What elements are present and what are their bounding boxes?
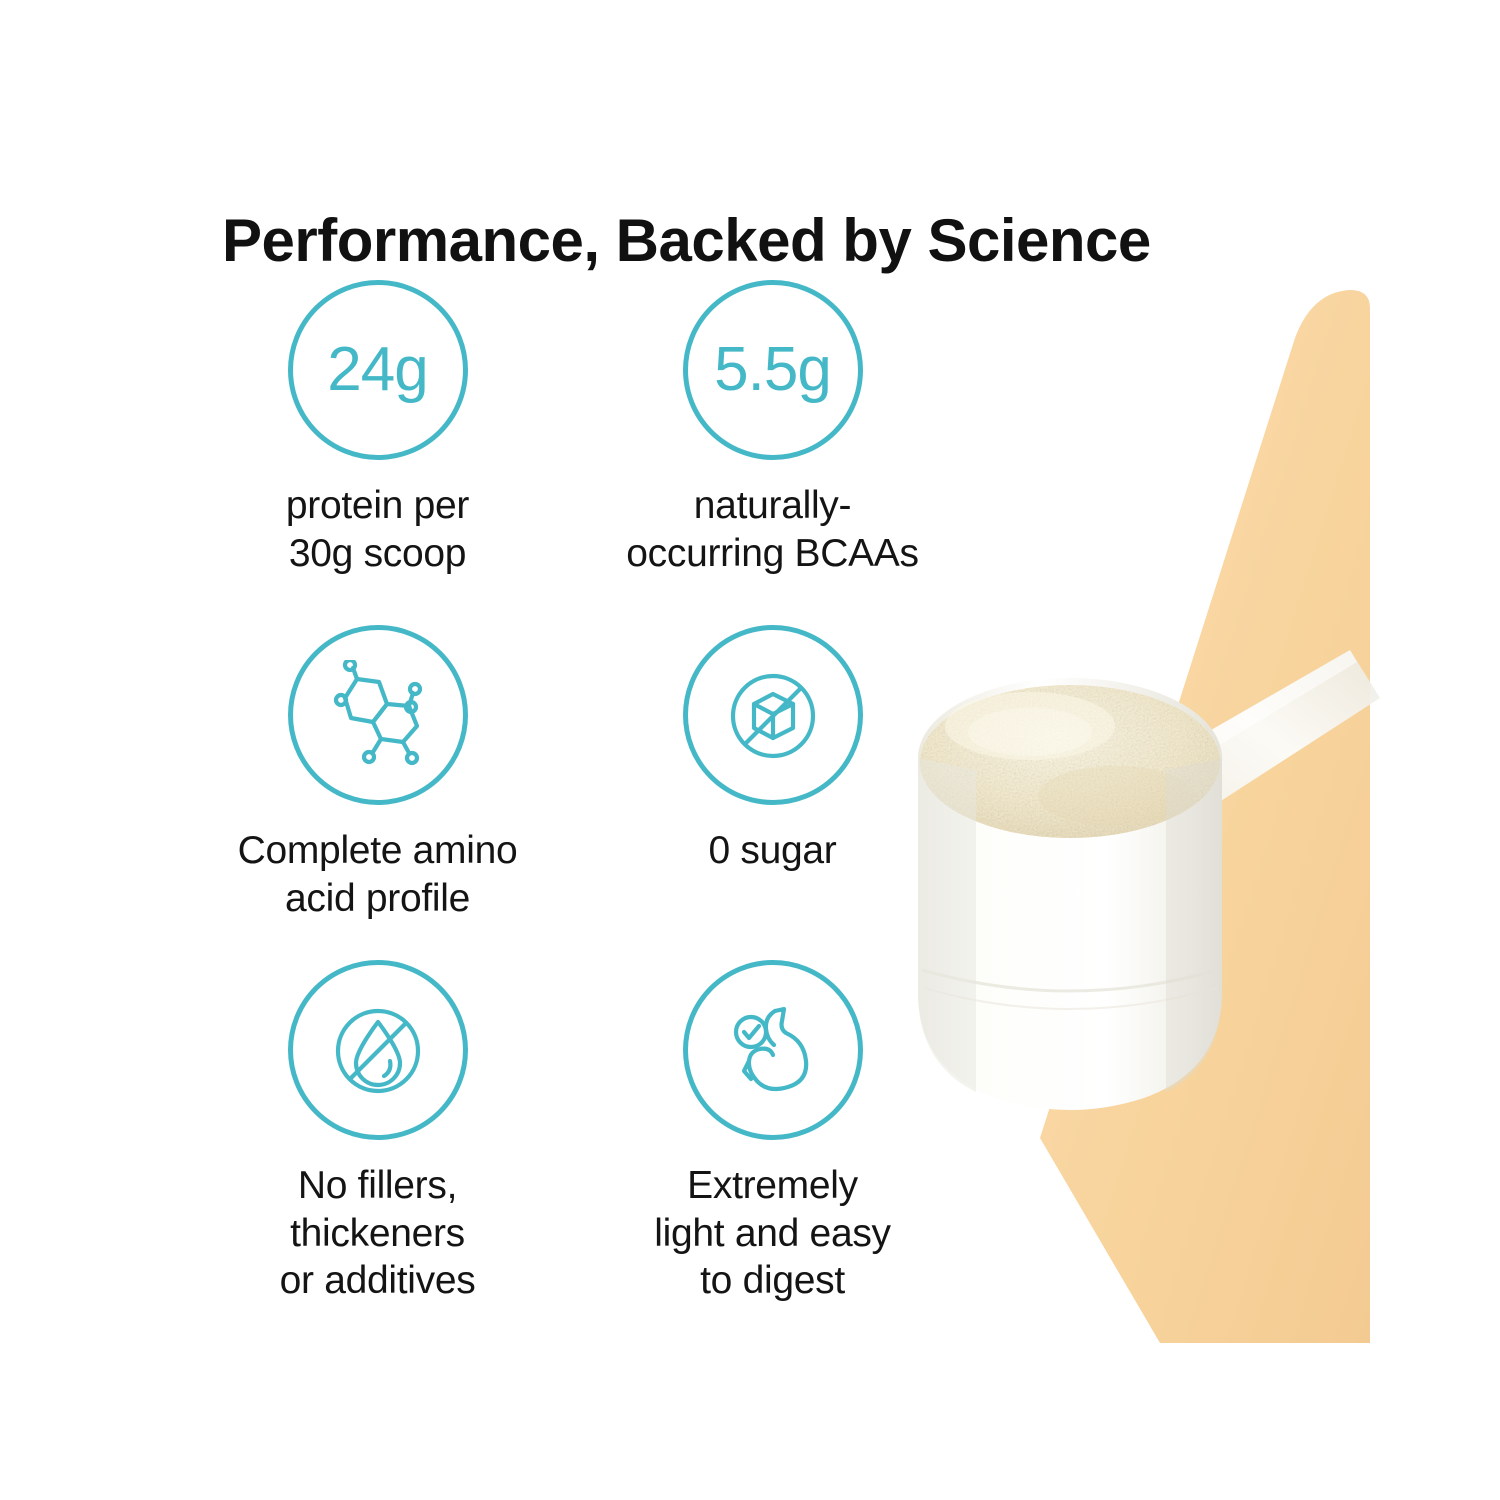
label-line: or additives [280,1257,476,1305]
badge-circle-amino [288,625,468,805]
badge-circle-bcaa: 5.5g [683,280,863,460]
stomach-check-icon [718,995,828,1105]
page-title: Performance, Backed by Science [222,208,1222,274]
feature-label-bcaa: naturally- occurring BCAAs [626,482,918,577]
label-line: protein per [286,482,469,530]
badge-circle-no-fillers [288,960,468,1140]
label-line: No fillers, [280,1162,476,1210]
product-infographic: Performance, Backed by Science 24g prote… [0,0,1500,1500]
badge-circle-sugar [683,625,863,805]
feature-row-2: Complete amino acid profile [180,625,970,960]
badge-circle-digest [683,960,863,1140]
badge-circle-protein: 24g [288,280,468,460]
feature-easy-to-digest: Extremely light and easy to digest [575,960,970,1290]
feature-label-sugar: 0 sugar [709,827,837,875]
badge-value-protein: 24g [327,339,427,401]
feature-label-no-fillers: No fillers, thickeners or additives [280,1162,476,1305]
no-droplet-icon [323,995,433,1105]
feature-complete-amino-acid-profile: Complete amino acid profile [180,625,575,960]
feature-row-3: No fillers, thickeners or additives [180,960,970,1290]
feature-label-digest: Extremely light and easy to digest [654,1162,890,1305]
molecule-icon [323,660,433,770]
feature-row-1: 24g protein per 30g scoop 5.5g naturally… [180,280,970,625]
label-line: light and easy [654,1210,890,1258]
feature-zero-sugar: 0 sugar [575,625,970,960]
feature-grid: 24g protein per 30g scoop 5.5g naturally… [180,280,970,1290]
label-line: Extremely [654,1162,890,1210]
label-line: 30g scoop [286,530,469,578]
label-line: naturally- [626,482,918,530]
label-line: Complete amino [238,827,518,875]
label-line: to digest [654,1257,890,1305]
feature-label-amino: Complete amino acid profile [238,827,518,922]
badge-value-bcaa: 5.5g [714,339,831,401]
feature-protein-per-scoop: 24g protein per 30g scoop [180,280,575,625]
feature-no-fillers: No fillers, thickeners or additives [180,960,575,1290]
label-line: occurring BCAAs [626,530,918,578]
label-line: 0 sugar [709,827,837,875]
label-line: acid profile [238,875,518,923]
feature-label-protein: protein per 30g scoop [286,482,469,577]
feature-naturally-occurring-bcaas: 5.5g naturally- occurring BCAAs [575,280,970,625]
label-line: thickeners [280,1210,476,1258]
no-sugar-cube-icon [718,660,828,770]
